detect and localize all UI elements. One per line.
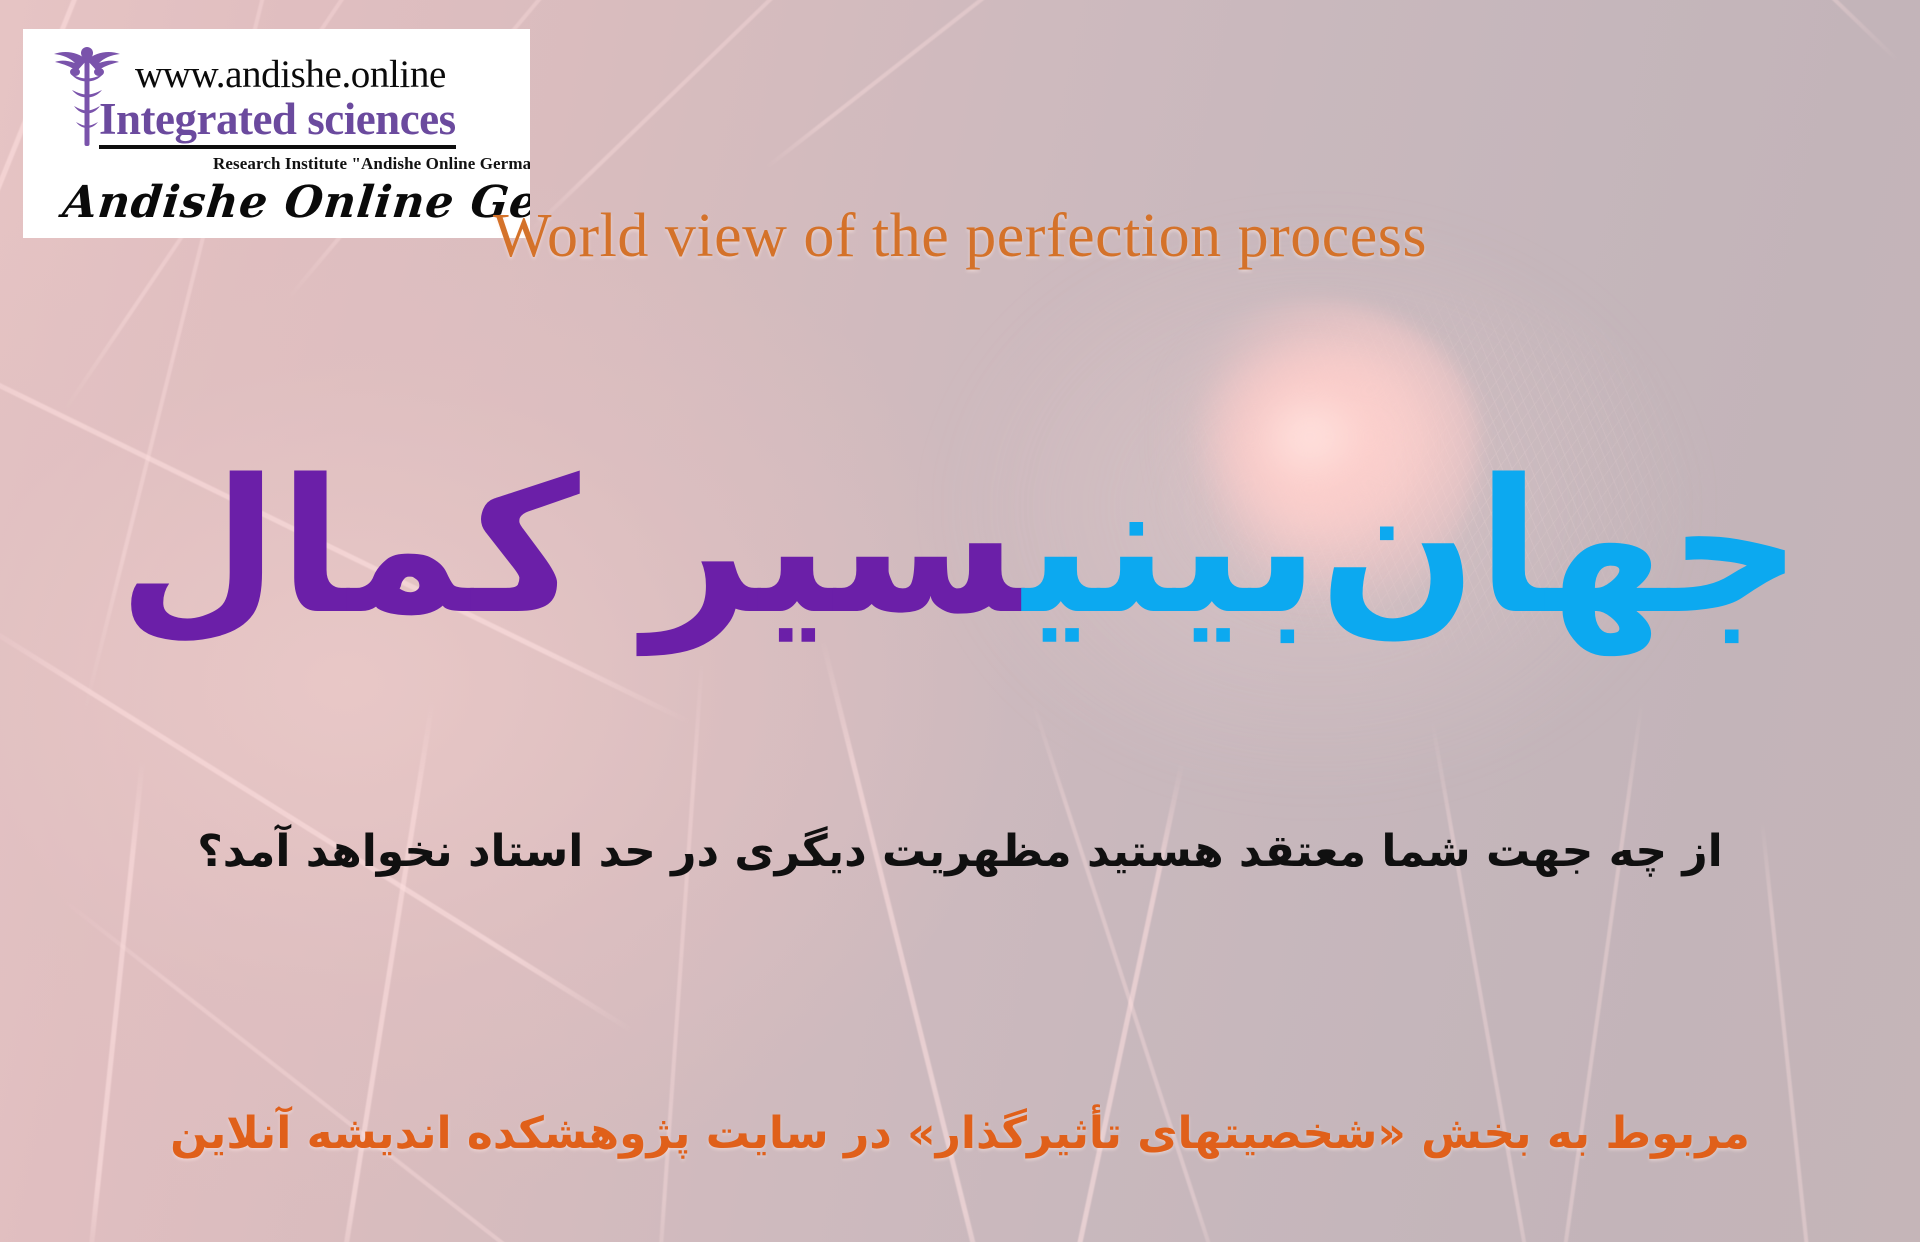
wireframe-line: [1523, 0, 1900, 63]
persian-question-line: از چه جهت شما معتقد هستید مظهریت دیگری د…: [60, 826, 1860, 879]
poster-canvas: www.andishe.online Integrated sciences R…: [0, 0, 1920, 1242]
logo-institute-name: Integrated sciences: [99, 97, 456, 149]
english-title: World view of the perfection process: [0, 205, 1920, 267]
logo-institute-subtitle: Research Institute "Andishe Online Germa…: [213, 155, 530, 172]
persian-footer-line: مربوط به بخش «شخصیتهای تأثیرگذار» در سای…: [60, 1108, 1860, 1161]
persian-title-purple-word: سیر کمال: [118, 439, 1023, 655]
wireframe-line: [765, 0, 1083, 169]
wireframe-line: [1430, 719, 1542, 1242]
logo-website-url: www.andishe.online: [135, 55, 446, 94]
wireframe-line: [0, 616, 634, 1034]
wireframe-line: [1760, 820, 1818, 1242]
wireframe-line: [529, 0, 863, 232]
persian-title-cyan-word: جهان‌بینی: [1023, 439, 1802, 655]
persian-title: جهان‌بینیسیر کمال: [0, 432, 1920, 663]
wireframe-line: [60, 897, 661, 1242]
